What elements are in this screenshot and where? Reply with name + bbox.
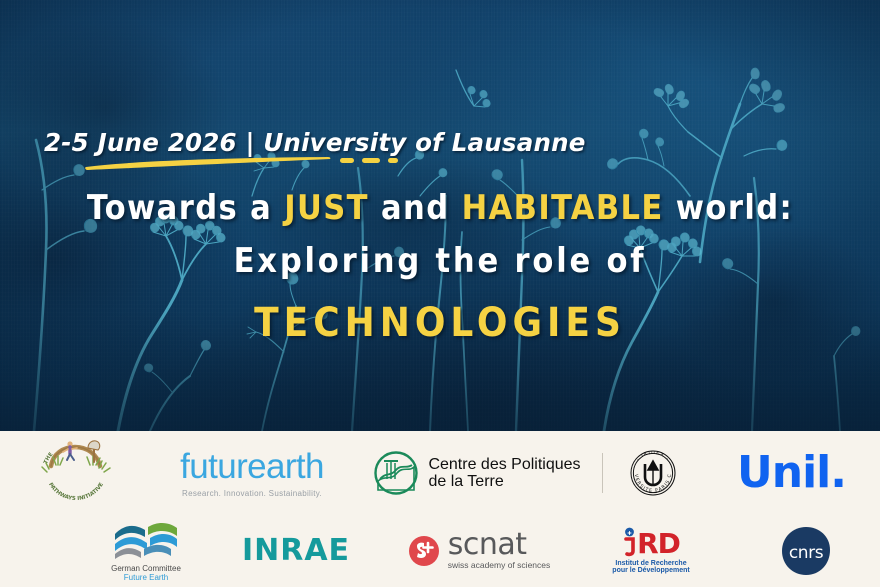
event-date-venue: 2-5 June 2026 | University of Lausanne [44, 128, 586, 157]
ird-line2: pour le Développement [612, 567, 689, 574]
title-line-1: Towards a JUST and HABITABLE world: [0, 186, 880, 230]
universite-paris-cite-seal: · IRIDEX · UNIVERSITE PARIS CITE [624, 444, 682, 502]
kicker-underline [84, 156, 332, 172]
future-earth-wordmark-text: futurearth [180, 447, 324, 486]
logo-future-earth[interactable]: futurearth Research. Innovation. Sustain… [152, 431, 352, 514]
sponsor-logo-bar: THE PATHWAYS INITIATIVE futurearth Resea… [0, 431, 880, 587]
scnat-mark [407, 534, 441, 568]
unil-wordmark: Unil. [737, 447, 846, 498]
pathways-text-bottom: PATHWAYS INITIATIVE [47, 481, 105, 501]
logo-row-1: THE PATHWAYS INITIATIVE futurearth Resea… [0, 431, 880, 514]
german-committee-line1: German Committee [111, 564, 181, 573]
german-committee-mark [111, 520, 181, 560]
logo-row2-spacer-left [0, 514, 86, 587]
german-committee-line2: Future Earth [124, 573, 168, 582]
centre-politiques-mark [373, 450, 419, 496]
ird-line1: Institut de Recherche [615, 560, 686, 567]
logo-german-committee-future-earth[interactable]: German Committee Future Earth [86, 514, 206, 587]
scnat-wordmark: scnat [448, 531, 527, 559]
logo-scnat[interactable]: scnat swiss academy of sciences [386, 514, 571, 587]
logo-row-2: German Committee Future Earth INRAE scna… [0, 514, 880, 587]
title-line-2: Exploring the role of [0, 230, 880, 292]
logo-cnrs[interactable]: cnrs [731, 514, 880, 587]
logo-pathways-initiative[interactable]: THE PATHWAYS INITIATIVE [0, 431, 152, 514]
logo-centre-politiques-terre[interactable]: Centre des Politiques de la Terre [352, 431, 602, 514]
logo-ird[interactable]: RD Institut de Recherche pour le Dévelop… [571, 514, 731, 587]
title-highlight-habitable: HABITABLE [462, 188, 664, 228]
future-earth-wordmark: futurearth [180, 448, 324, 486]
kicker-dash-2 [362, 158, 380, 163]
cnrs-wordmark: cnrs [788, 543, 823, 563]
scnat-tagline: swiss academy of sciences [448, 560, 551, 570]
poster-title: Towards a JUST and HABITABLE world: Expl… [0, 186, 880, 354]
logo-universite-paris-cite[interactable]: · IRIDEX · UNIVERSITE PARIS CITE [603, 431, 703, 514]
ird-wordmark-rd: RD [637, 531, 680, 557]
cnrs-mark: cnrs [779, 524, 833, 578]
centre-politiques-line1: Centre des Politiques [428, 456, 580, 473]
title-text-towards-a: Towards a [87, 188, 284, 228]
title-text-world: world: [664, 188, 793, 228]
inrae-wordmark: INRAE [242, 533, 350, 568]
conference-poster: 2-5 June 2026 | University of Lausanne T… [0, 0, 880, 587]
kicker-dash-1 [340, 158, 354, 163]
centre-politiques-line2: de la Terre [428, 473, 580, 490]
pathways-initiative-mark: THE PATHWAYS INITIATIVE [37, 436, 115, 510]
title-highlight-just: JUST [284, 188, 369, 228]
logo-unil[interactable]: Unil. [703, 431, 880, 514]
title-line-3-technologies: TECHNOLOGIES [0, 292, 880, 354]
ird-i-glyph [622, 527, 637, 557]
logo-inrae[interactable]: INRAE [206, 514, 386, 587]
future-earth-tagline: Research. Innovation. Sustainability. [182, 489, 322, 498]
hero-banner: 2-5 June 2026 | University of Lausanne T… [0, 0, 880, 431]
title-text-and: and [369, 188, 462, 228]
kicker-dash-3 [388, 158, 398, 163]
